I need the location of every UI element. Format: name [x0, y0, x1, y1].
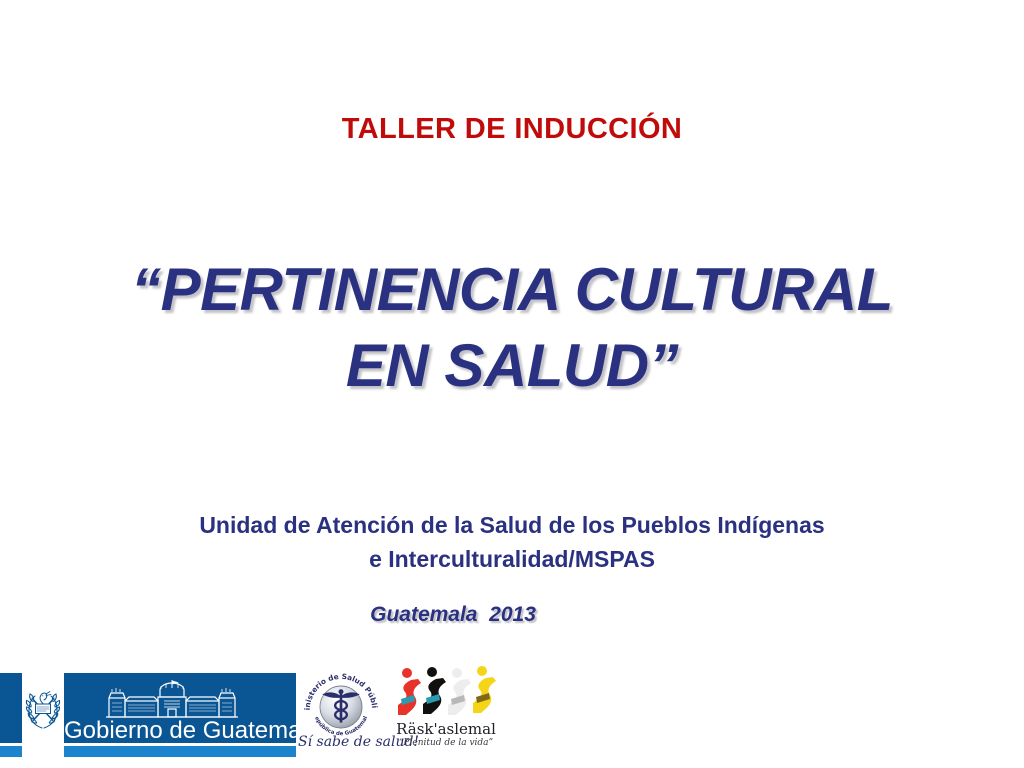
gobierno-wordmark: Gobierno de Guatemala: [64, 717, 290, 745]
running-figures-icon: [394, 666, 498, 722]
slide-subtitle-unit: Unidad de Atención de la Salud de los Pu…: [0, 508, 1024, 576]
slide-title-line-1: “PERTINENCIA CULTURAL: [0, 252, 1024, 328]
gobierno-de-guatemala-logo: Gobierno de Guatemala: [0, 673, 296, 753]
palacio-nacional-icon: [96, 677, 248, 721]
rasqaslemal-logo: Räsk'aslemal “Plenitud de la vida”: [394, 666, 498, 766]
escudo-de-guatemala-icon: [24, 687, 62, 731]
footer-logo-bar: Gobierno de Guatemala: [0, 660, 1024, 768]
rasqaslemal-subtitle: “Plenitud de la vida”: [394, 738, 498, 748]
slide-canvas: TALLER DE INDUCCIÓN “PERTINENCIA CULTURA…: [0, 0, 1024, 768]
rasqaslemal-name: Räsk'aslemal: [394, 720, 498, 738]
mspas-tagline: Sí sabe de salud!: [298, 734, 390, 750]
slide-eyebrow-heading: TALLER DE INDUCCIÓN: [0, 113, 1024, 146]
slide-title-line-2: EN SALUD”: [0, 328, 1024, 404]
slide-place-year: Guatemala 2013: [0, 603, 1024, 627]
slide-title: “PERTINENCIA CULTURAL EN SALUD”: [0, 252, 1024, 404]
mspas-seal-logo: Ministerio de Salud Pública República de…: [298, 668, 386, 764]
